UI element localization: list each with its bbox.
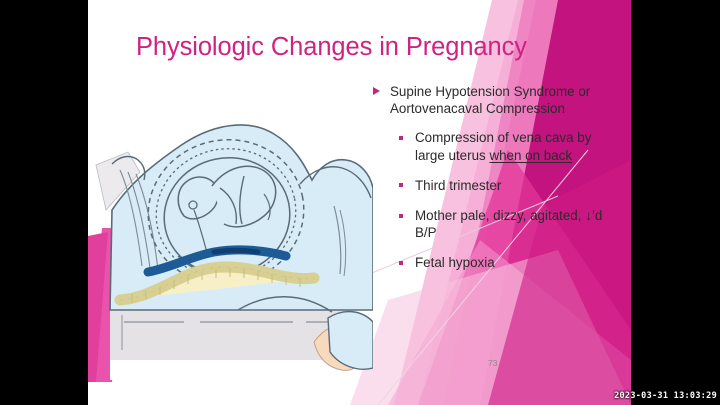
sub-bullet-list: Compression of vena cava by large uterus… [371, 129, 621, 271]
presentation-slide: Physiologic Changes in Pregnancy Supine … [88, 0, 631, 405]
bullet-level2-third-trimester: Third trimester [396, 177, 621, 194]
square-bullet-icon [399, 261, 403, 265]
square-bullet-icon [399, 214, 403, 218]
video-timestamp-overlay: 2023-03-31 13:03:29 [614, 391, 717, 401]
square-bullet-icon [399, 183, 403, 187]
slide-body-content: Supine Hypotension Syndrome or Aortovena… [371, 83, 621, 285]
supine-pregnant-woman-illustration [88, 60, 373, 380]
video-player-frame: Physiologic Changes in Pregnancy Supine … [0, 0, 720, 405]
bullet-level1-supine-hypotension: Supine Hypotension Syndrome or Aortovena… [371, 83, 621, 117]
bullet-level2-mother-symptoms: Mother pale, dizzy, agitated, ↓’d B/P [396, 207, 621, 241]
bullet-text: Supine Hypotension Syndrome or Aortovena… [390, 84, 590, 116]
bullet-level2-fetal-hypoxia: Fetal hypoxia [396, 254, 621, 271]
slide-number: 73 [488, 358, 497, 368]
bullet-text: Fetal hypoxia [415, 255, 495, 270]
page-title: Physiologic Changes in Pregnancy [136, 33, 606, 62]
bullet-level2-compression-vena-cava: Compression of vena cava by large uterus… [396, 129, 621, 163]
bullet-text-underlined: when on back [489, 148, 572, 163]
bullet-text: Mother pale, dizzy, agitated, ↓’d B/P [415, 208, 602, 240]
triangle-bullet-icon [373, 87, 380, 95]
bullet-text: Third trimester [415, 178, 501, 193]
square-bullet-icon [399, 136, 403, 140]
